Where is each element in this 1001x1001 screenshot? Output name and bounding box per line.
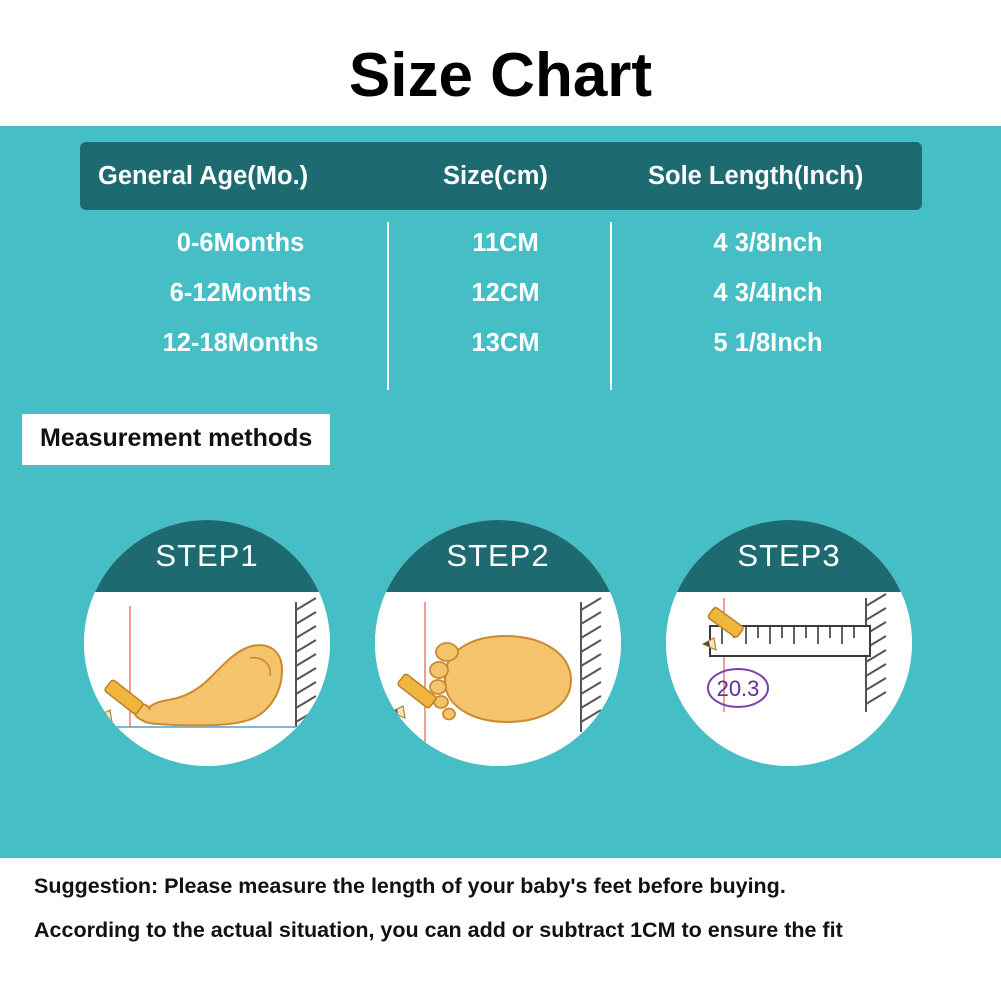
table-row: 6-12Months 12CM 4 3/4Inch [80,268,922,318]
table-header-row: General Age(Mo.) Size(cm) Sole Length(In… [80,142,922,210]
cell-size: 12CM [393,279,618,308]
cell-sole-length: 4 3/4Inch [618,279,918,308]
size-chart-page: Size Chart General Age(Mo.) Size(cm) Sol… [0,0,1001,1001]
cell-size: 11CM [393,229,618,258]
table-row: 12-18Months 13CM 5 1/8Inch [80,318,922,368]
table-column-divider [610,222,612,390]
foot-top-with-ruler-icon [375,592,621,766]
cell-sole-length: 4 3/8Inch [618,229,918,258]
footer-suggestion-line-1: Suggestion: Please measure the length of… [34,874,786,899]
column-header-age: General Age(Mo.) [98,162,443,191]
table-row: 0-6Months 11CM 4 3/8Inch [80,218,922,268]
step-caption-2: STEP2 [446,538,549,574]
measurement-steps: STEP1 [0,520,1001,820]
step-caption-bar-1: STEP1 [84,520,330,592]
foot-side-with-ruler-icon [84,592,330,766]
table-body: 0-6Months 11CM 4 3/8Inch 6-12Months 12CM… [80,218,922,388]
cell-size: 13CM [393,329,618,358]
table-column-divider [387,222,389,390]
column-header-size: Size(cm) [443,162,648,191]
measurement-value: 20.3 [717,676,760,701]
cell-age: 12-18Months [88,329,393,358]
page-title: Size Chart [0,40,1001,111]
cell-age: 6-12Months [88,279,393,308]
step-caption-1: STEP1 [155,538,258,574]
measurement-methods-label: Measurement methods [22,414,330,465]
step-caption-bar-3: STEP3 [666,520,912,592]
ruler-measurement-icon: 20.3 [666,592,912,766]
step-card-1: STEP1 [84,520,330,766]
step-card-2: STEP2 [375,520,621,766]
cell-age: 0-6Months [88,229,393,258]
footer-suggestion-line-2: According to the actual situation, you c… [34,918,843,943]
step-caption-3: STEP3 [737,538,840,574]
step-card-3: STEP3 [666,520,912,766]
cell-sole-length: 5 1/8Inch [618,329,918,358]
step-caption-bar-2: STEP2 [375,520,621,592]
column-header-sole-length: Sole Length(Inch) [648,162,918,191]
